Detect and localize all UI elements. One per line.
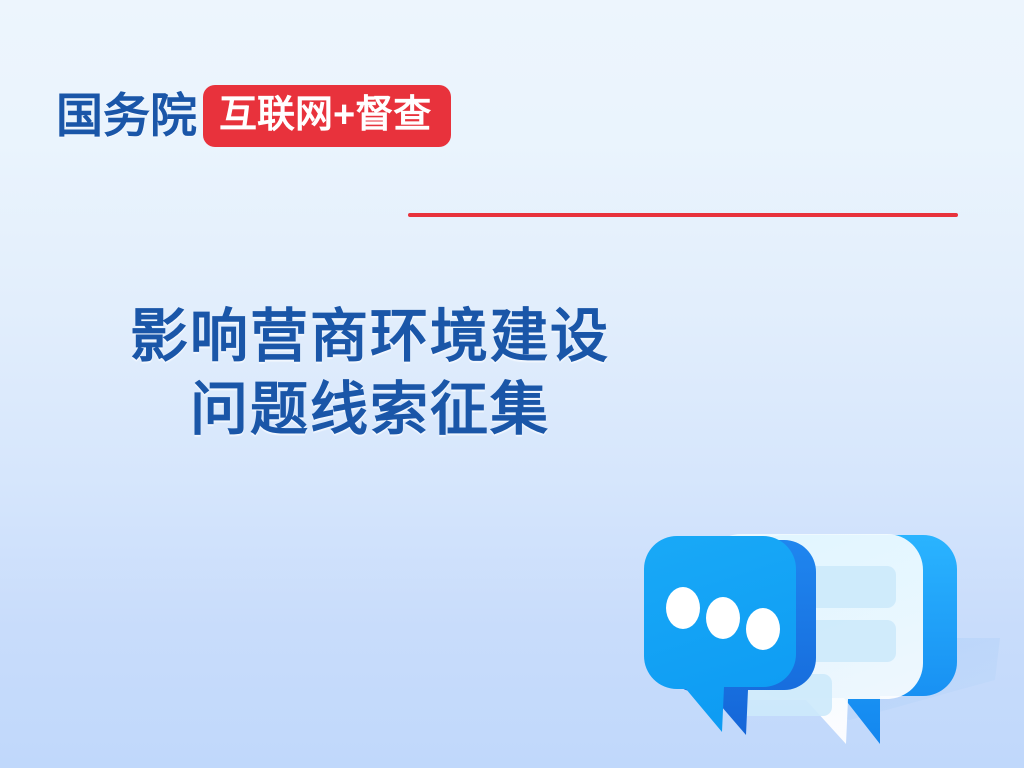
program-badge: 互联网+督查: [203, 85, 451, 147]
page-title: 影响营商环境建设 问题线索征集: [100, 300, 640, 446]
page-title-line-2: 问题线索征集: [100, 373, 640, 446]
organization-name: 国务院: [56, 92, 197, 139]
speech-bubbles-svg: [600, 380, 1024, 768]
poster-header: 国务院 互联网+督查: [0, 70, 1024, 160]
poster-canvas: 国务院 互联网+督查 影响营商环境建设 问题线索征集: [0, 0, 1024, 768]
brand-lockup: 国务院 互联网+督查: [56, 70, 451, 160]
page-title-line-1: 影响营商环境建设: [100, 300, 640, 373]
front-bubble-dot-3: [746, 608, 780, 650]
front-bubble-dot-2: [706, 597, 740, 639]
front-bubble-dot-1: [666, 587, 700, 629]
speech-bubbles-illustration: [600, 380, 1024, 768]
header-divider-rule: [408, 213, 958, 217]
